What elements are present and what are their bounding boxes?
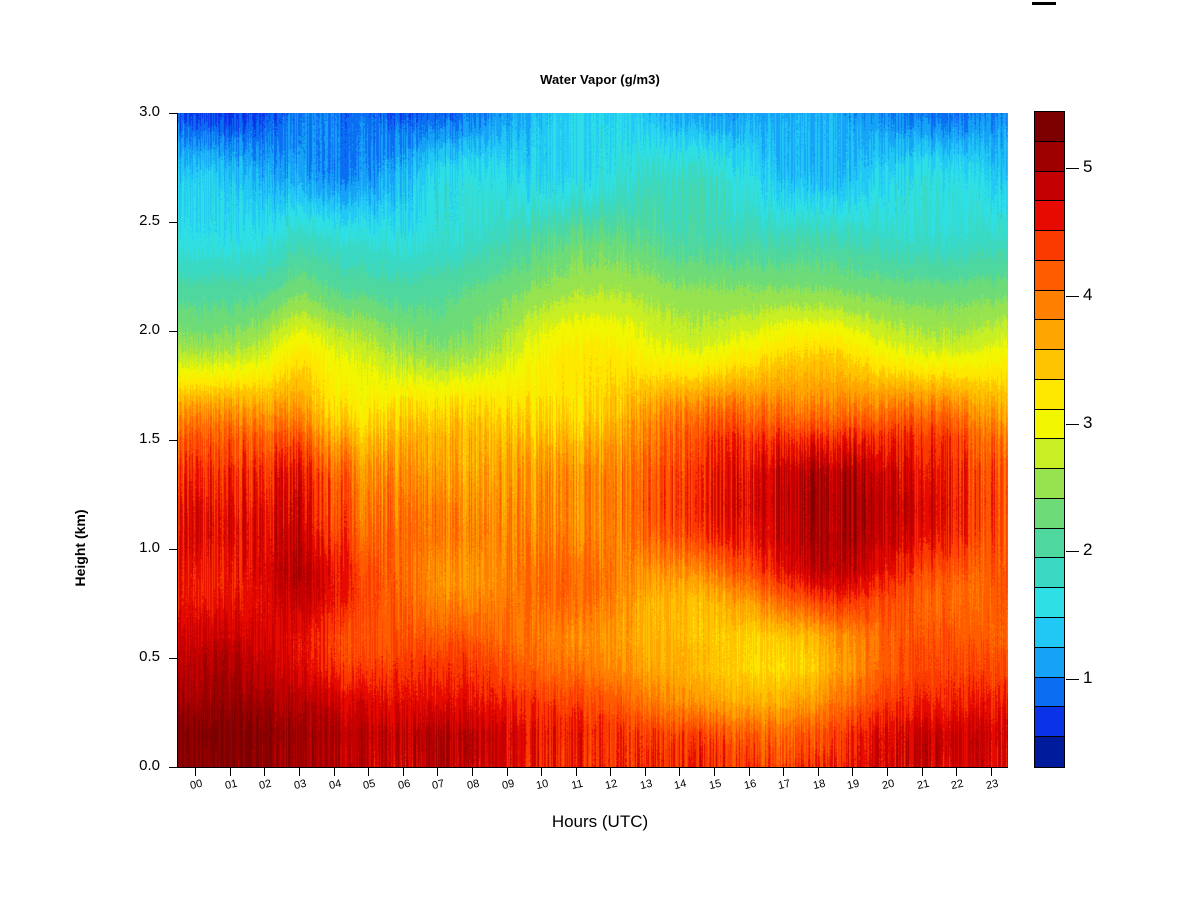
colorbar-band-8 <box>1035 350 1064 380</box>
colorbar-band-15 <box>1035 558 1064 588</box>
colorbar-band-3 <box>1035 201 1064 231</box>
y-tick-1.0 <box>169 549 177 550</box>
x-tick-15 <box>714 768 715 776</box>
y-axis-line <box>177 113 178 768</box>
x-tick-08 <box>472 768 473 776</box>
colorbar-band-14 <box>1035 529 1064 559</box>
colorbar-tick-label-2: 2 <box>1083 540 1092 560</box>
y-tick-0.5 <box>169 658 177 659</box>
x-tick-11 <box>576 768 577 776</box>
heatmap-image <box>178 113 1008 767</box>
colorbar-tick-3 <box>1066 424 1079 425</box>
x-tick-18 <box>818 768 819 776</box>
y-tick-label-2.0: 2.0 <box>100 321 160 338</box>
x-tick-06 <box>403 768 404 776</box>
chart-title: Water Vapor (g/m3) <box>0 72 1200 87</box>
colorbar-band-21 <box>1035 737 1064 767</box>
colorbar-band-9 <box>1035 380 1064 410</box>
colorbar-band-6 <box>1035 291 1064 321</box>
y-tick-label-3.0: 3.0 <box>100 103 160 120</box>
y-tick-label-0.5: 0.5 <box>100 648 160 665</box>
x-tick-22 <box>956 768 957 776</box>
heatmap-plot-area <box>178 113 1008 767</box>
y-tick-label-1.5: 1.5 <box>100 430 160 447</box>
x-axis-label: Hours (UTC) <box>0 812 1200 832</box>
colorbar-band-10 <box>1035 410 1064 440</box>
x-tick-01 <box>230 768 231 776</box>
colorbar-band-0 <box>1035 112 1064 142</box>
x-tick-07 <box>437 768 438 776</box>
colorbar-tick-label-4: 4 <box>1083 285 1092 305</box>
y-tick-0.0 <box>169 767 177 768</box>
colorbar-band-11 <box>1035 439 1064 469</box>
x-tick-17 <box>783 768 784 776</box>
colorbar-band-4 <box>1035 231 1064 261</box>
x-tick-09 <box>507 768 508 776</box>
x-tick-16 <box>749 768 750 776</box>
colorbar-tick-label-5: 5 <box>1083 157 1092 177</box>
y-tick-label-0.0: 0.0 <box>100 757 160 774</box>
x-tick-05 <box>368 768 369 776</box>
colorbar-band-1 <box>1035 142 1064 172</box>
x-tick-14 <box>679 768 680 776</box>
y-tick-2.5 <box>169 222 177 223</box>
colorbar-band-12 <box>1035 469 1064 499</box>
x-tick-label-23: 23 <box>971 775 1013 795</box>
x-tick-21 <box>922 768 923 776</box>
colorbar-band-7 <box>1035 320 1064 350</box>
x-tick-19 <box>852 768 853 776</box>
y-tick-3.0 <box>169 113 177 114</box>
x-tick-10 <box>541 768 542 776</box>
colorbar-band-2 <box>1035 172 1064 202</box>
colorbar-band-5 <box>1035 261 1064 291</box>
x-tick-03 <box>299 768 300 776</box>
corner-artifact <box>1032 2 1056 5</box>
y-tick-label-2.5: 2.5 <box>100 212 160 229</box>
y-tick-label-1.0: 1.0 <box>100 539 160 556</box>
x-tick-02 <box>264 768 265 776</box>
colorbar-tick-label-1: 1 <box>1083 668 1092 688</box>
colorbar-tick-5 <box>1066 168 1079 169</box>
x-tick-20 <box>887 768 888 776</box>
figure-canvas: Water Vapor (g/m3) 000102030405060708091… <box>0 0 1200 900</box>
x-axis-line <box>178 767 1008 768</box>
colorbar <box>1034 111 1065 768</box>
x-tick-00 <box>195 768 196 776</box>
x-tick-04 <box>334 768 335 776</box>
colorbar-tick-4 <box>1066 296 1079 297</box>
y-tick-1.5 <box>169 440 177 441</box>
colorbar-band-13 <box>1035 499 1064 529</box>
colorbar-tick-1 <box>1066 679 1079 680</box>
colorbar-band-18 <box>1035 648 1064 678</box>
x-tick-12 <box>610 768 611 776</box>
y-tick-2.0 <box>169 331 177 332</box>
colorbar-tick-2 <box>1066 551 1079 552</box>
colorbar-band-20 <box>1035 707 1064 737</box>
x-tick-23 <box>991 768 992 776</box>
colorbar-band-16 <box>1035 588 1064 618</box>
x-tick-13 <box>645 768 646 776</box>
y-axis-label: Height (km) <box>72 448 88 648</box>
colorbar-band-17 <box>1035 618 1064 648</box>
y-axis-tick-labels: 0.00.51.01.52.02.53.0 <box>100 0 160 900</box>
colorbar-band-19 <box>1035 678 1064 708</box>
colorbar-tick-label-3: 3 <box>1083 413 1092 433</box>
